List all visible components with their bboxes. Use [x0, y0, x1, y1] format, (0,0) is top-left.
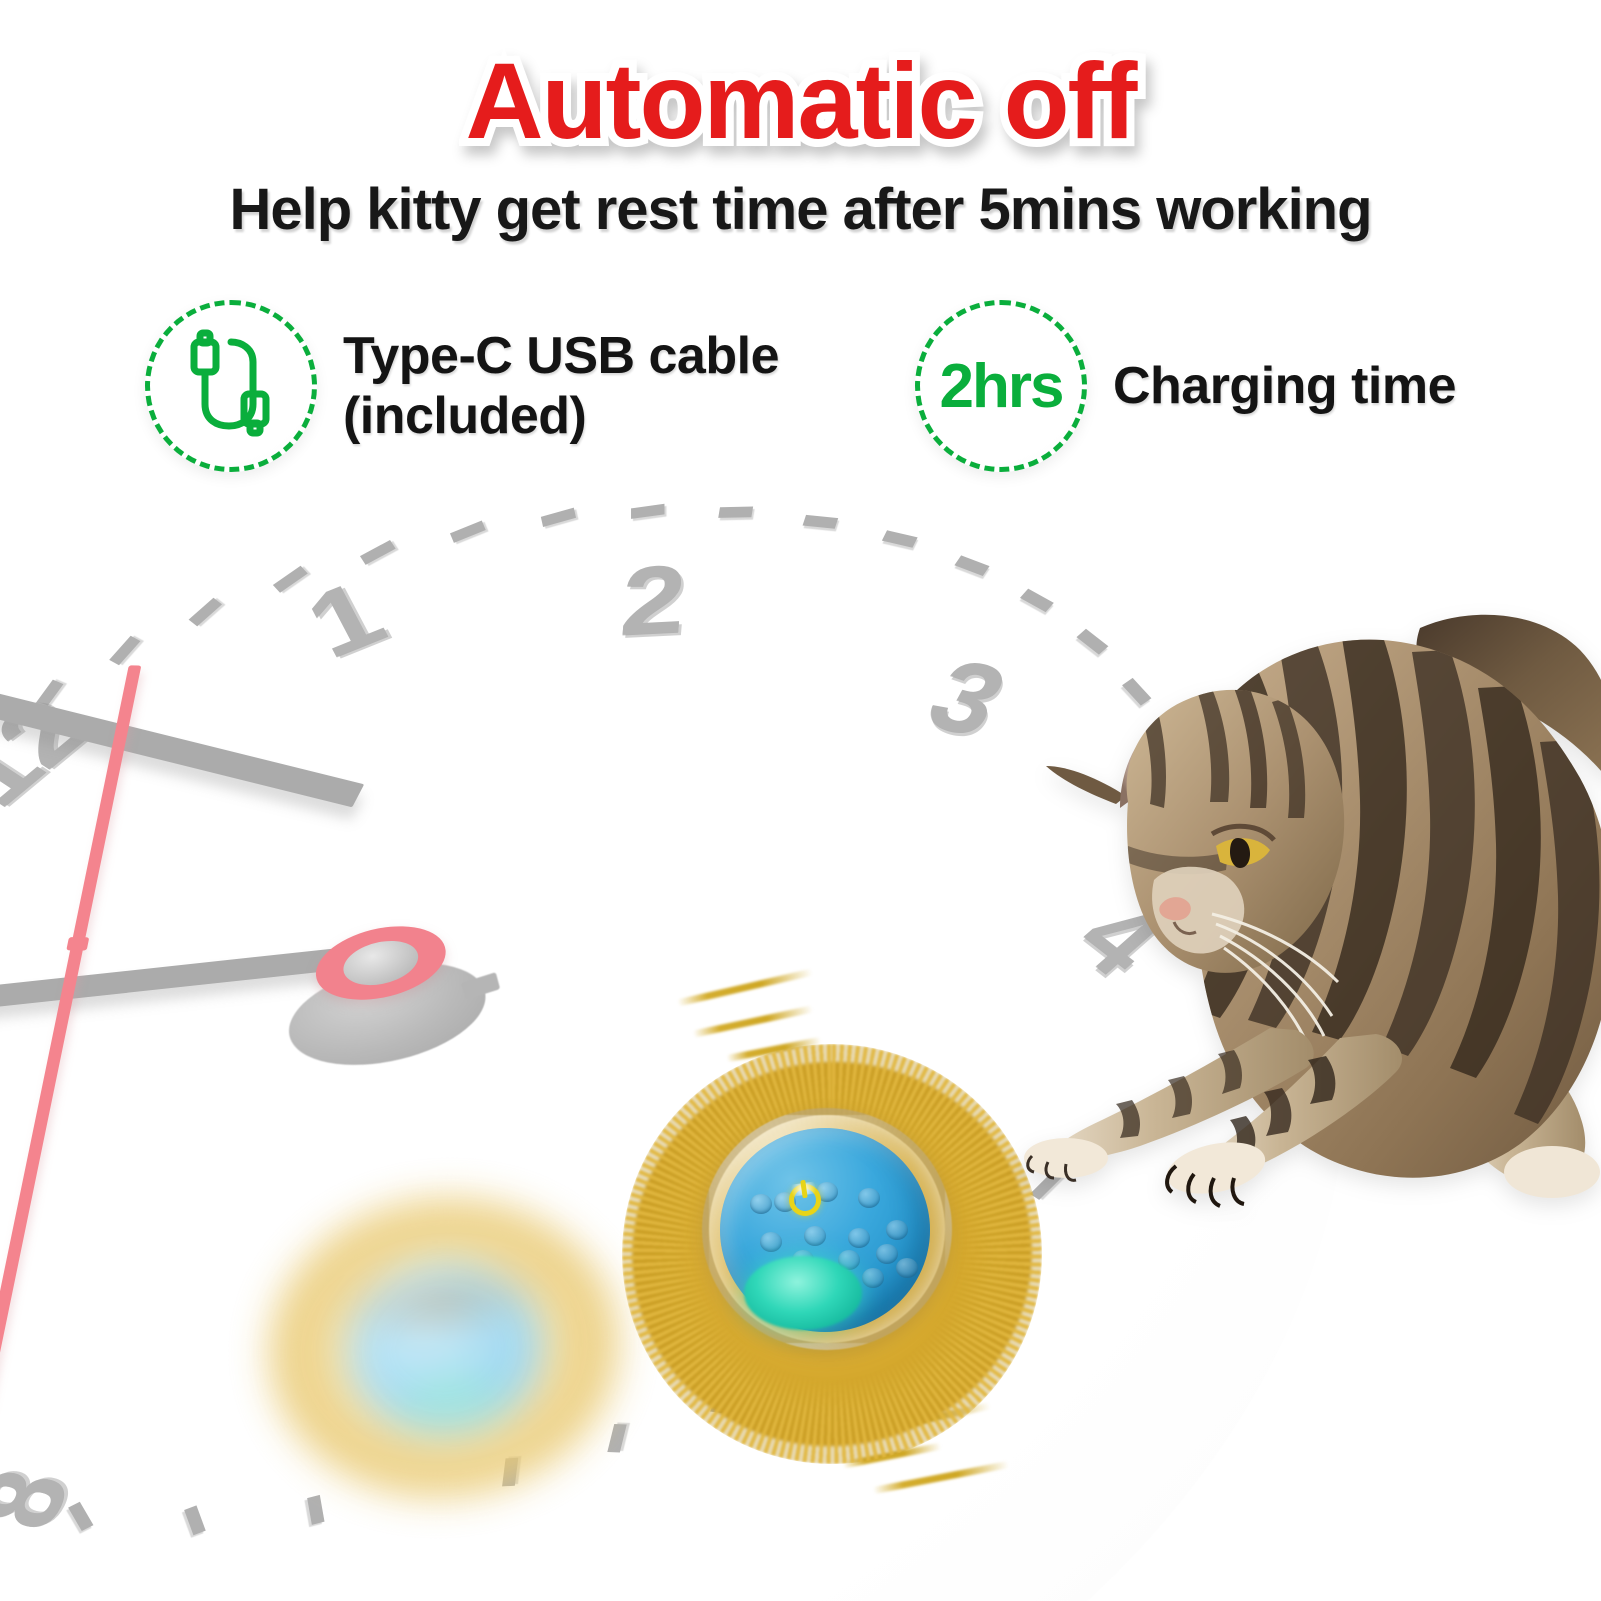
product-marketing-image: 12 1 2 3 4 8: [0, 0, 1601, 1601]
clock-numeral-3: 3: [913, 644, 1019, 752]
clock-tick: [34, 680, 63, 710]
charging-time-value: 2hrs: [939, 351, 1062, 422]
clock-tick: [954, 555, 989, 576]
clock-hub-base: [285, 948, 490, 1081]
motion-streak: [693, 1005, 814, 1037]
feature-usb-cable-label: Type-C USB cable (included): [343, 326, 823, 447]
page-title: Automatic off: [0, 0, 1601, 156]
header: Automatic off Help kitty get rest time a…: [0, 0, 1601, 242]
clock-numeral-12: 12: [0, 686, 107, 820]
clock-tick: [718, 507, 753, 518]
clock-minute-hand: [0, 669, 364, 807]
clock-tick: [360, 540, 396, 565]
cat-ball-toy: [636, 1058, 1028, 1450]
clock-hour-hand: [0, 947, 353, 1028]
feature-usb-cable: Type-C USB cable (included): [145, 300, 823, 472]
usb-cable-badge: [145, 300, 317, 472]
clock-tick: [541, 508, 576, 527]
clock-numeral-1: 1: [293, 566, 395, 673]
clock-tick: [450, 520, 486, 542]
clock-tick: [189, 598, 222, 627]
usb-cable-icon: [179, 326, 283, 447]
clock-tick: [109, 636, 140, 666]
clock-numeral-2: 2: [617, 551, 686, 651]
feature-charging-time: 2hrs Charging time: [915, 300, 1456, 472]
clock-tick: [184, 1505, 206, 1535]
clock-tick: [68, 1502, 93, 1531]
charging-time-badge: 2hrs: [915, 300, 1087, 472]
motion-streak: [873, 1461, 1010, 1494]
motion-streak: [677, 969, 813, 1007]
clock-second-hand: [0, 665, 141, 1406]
cat-ball-toy-motion-ghost: [253, 1180, 634, 1515]
page-subtitle: Help kitty get rest time after 5mins wor…: [0, 178, 1601, 242]
cat-paw-left: [1024, 1138, 1108, 1180]
clock-tick: [631, 504, 664, 519]
toy-led-glow: [744, 1256, 862, 1330]
tabby-cat: [1020, 588, 1601, 1248]
clock-tick: [882, 530, 918, 547]
feature-charging-time-label: Charging time: [1113, 356, 1456, 416]
cat-ear-outer: [1046, 766, 1126, 804]
feature-list: Type-C USB cable (included) 2hrs Chargin…: [0, 300, 1601, 472]
clock-center-hub: [313, 916, 449, 1010]
cat-rear-paw: [1504, 1146, 1600, 1198]
clock-tick: [803, 515, 839, 529]
clock-tick: [273, 566, 308, 593]
clock-numeral-8: 8: [0, 1463, 87, 1537]
